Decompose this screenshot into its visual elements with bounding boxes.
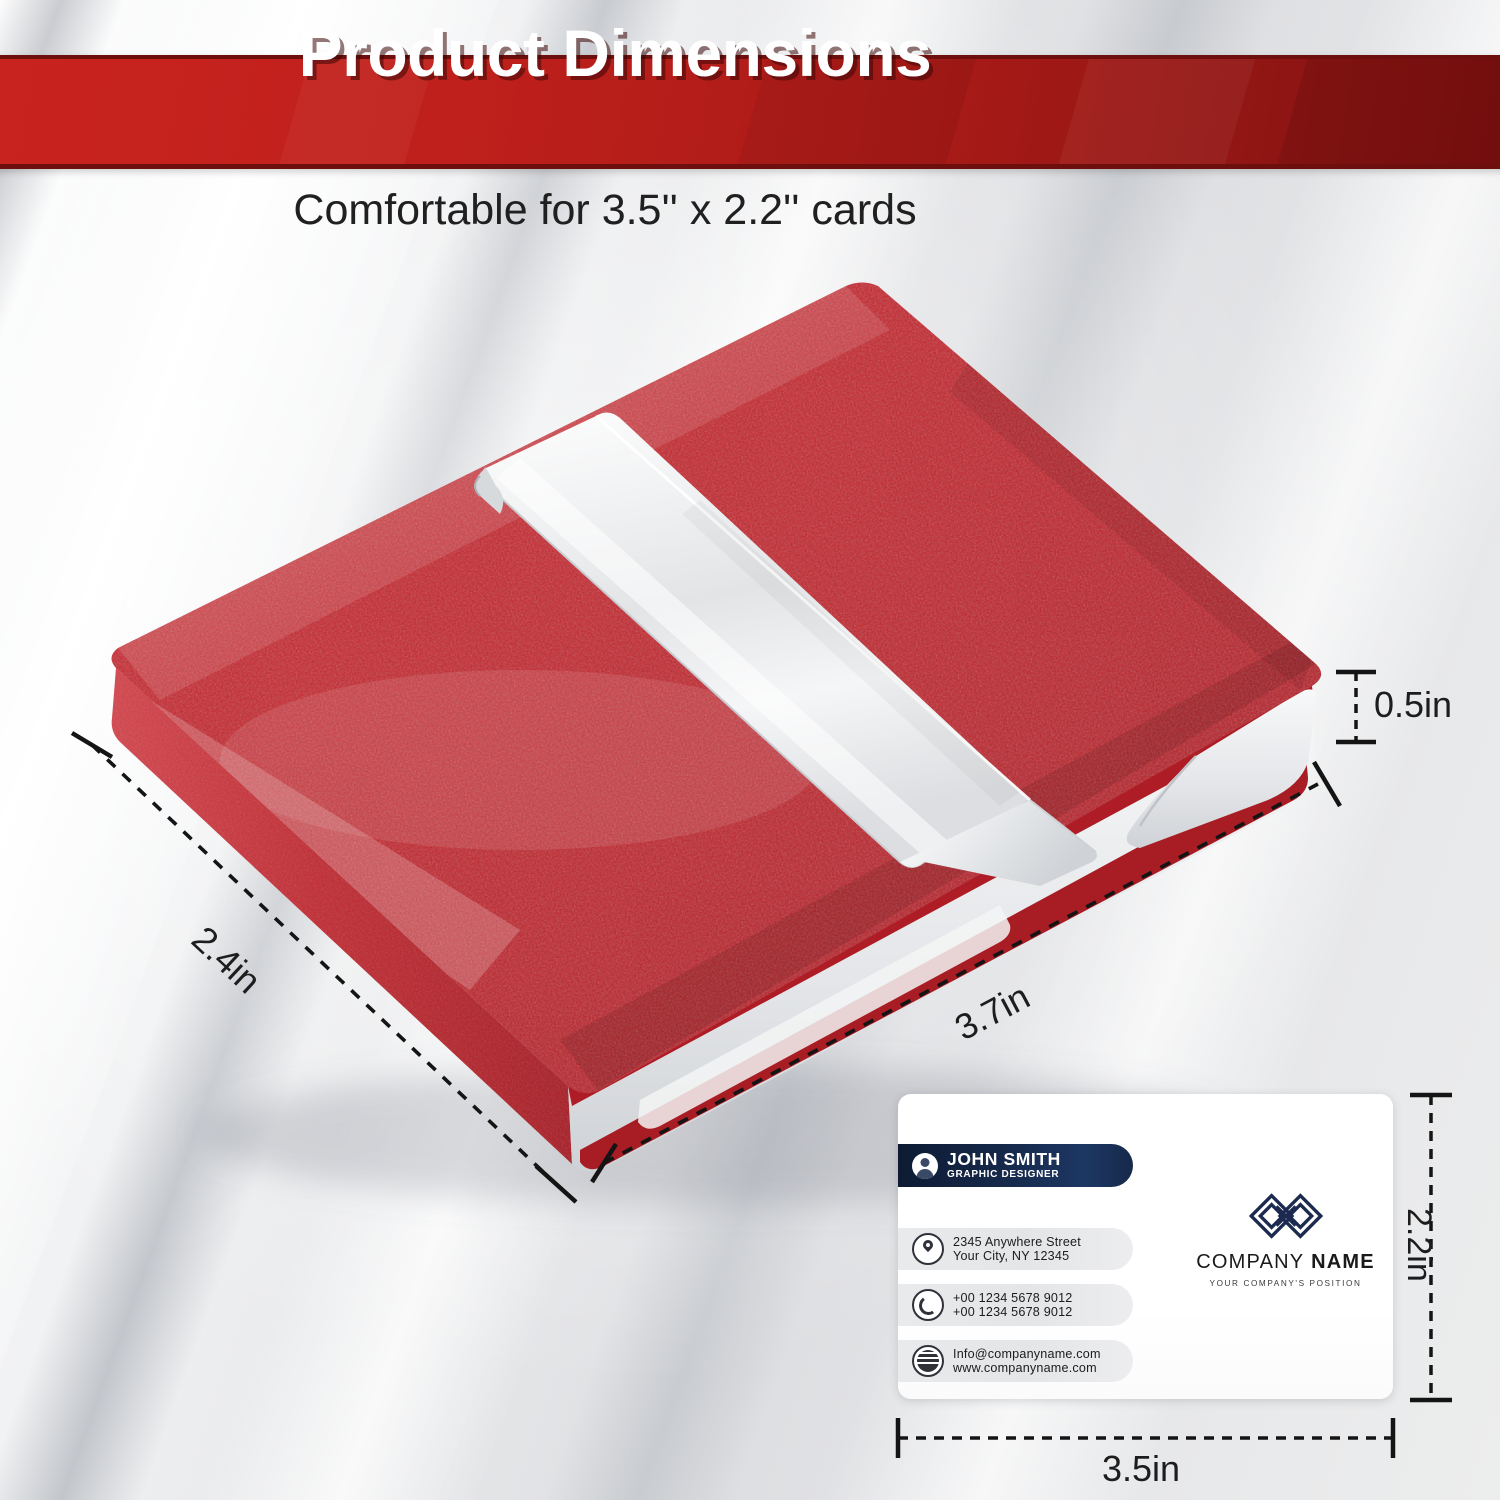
- company-name-bold: NAME: [1311, 1251, 1375, 1273]
- business-card-phone-line2: +00 1234 5678 9012: [953, 1305, 1073, 1319]
- business-card-contact-row: 2345 Anywhere Street Your City, NY 12345: [898, 1228, 1133, 1270]
- location-pin-icon: [912, 1233, 944, 1265]
- dimension-label-height: 0.5in: [1374, 684, 1452, 726]
- company-name-light: COMPANY: [1196, 1251, 1304, 1273]
- business-card-sample: JOHN SMITH GRAPHIC DESIGNER 2345 Anywher…: [898, 1094, 1393, 1399]
- business-card-company-name: COMPANY NAME: [1196, 1251, 1375, 1274]
- business-card-name: JOHN SMITH: [947, 1150, 1061, 1169]
- business-card-contact-row: +00 1234 5678 9012 +00 1234 5678 9012: [898, 1284, 1133, 1326]
- phone-icon: [912, 1289, 944, 1321]
- dimension-label-card-height: 2.2in: [1399, 1208, 1438, 1282]
- dimension-label-card-width: 3.5in: [1102, 1448, 1180, 1490]
- business-card-email: Info@companyname.com: [953, 1347, 1101, 1361]
- company-logo-icon: [1246, 1190, 1326, 1242]
- business-card-address-line1: 2345 Anywhere Street: [953, 1235, 1081, 1249]
- business-card-contact-row: Info@companyname.com www.companyname.com: [898, 1340, 1133, 1382]
- business-card-role: GRAPHIC DESIGNER: [947, 1170, 1061, 1181]
- business-card-address-line2: Your City, NY 12345: [953, 1249, 1081, 1263]
- globe-icon: [912, 1345, 944, 1377]
- business-card-name-bar: JOHN SMITH GRAPHIC DESIGNER: [898, 1144, 1133, 1187]
- product-dimensions-infographic: Product Dimensions Comfortable for 3.5''…: [0, 0, 1500, 1500]
- business-card-right-column: COMPANY NAME YOUR COMPANY'S POSITION: [1178, 1094, 1393, 1399]
- business-card-left-column: JOHN SMITH GRAPHIC DESIGNER 2345 Anywher…: [898, 1094, 1168, 1399]
- business-card-tagline: YOUR COMPANY'S POSITION: [1210, 1279, 1362, 1288]
- business-card-phone-line1: +00 1234 5678 9012: [953, 1291, 1073, 1305]
- business-card-website: www.companyname.com: [953, 1361, 1101, 1375]
- person-avatar-icon: [912, 1153, 938, 1179]
